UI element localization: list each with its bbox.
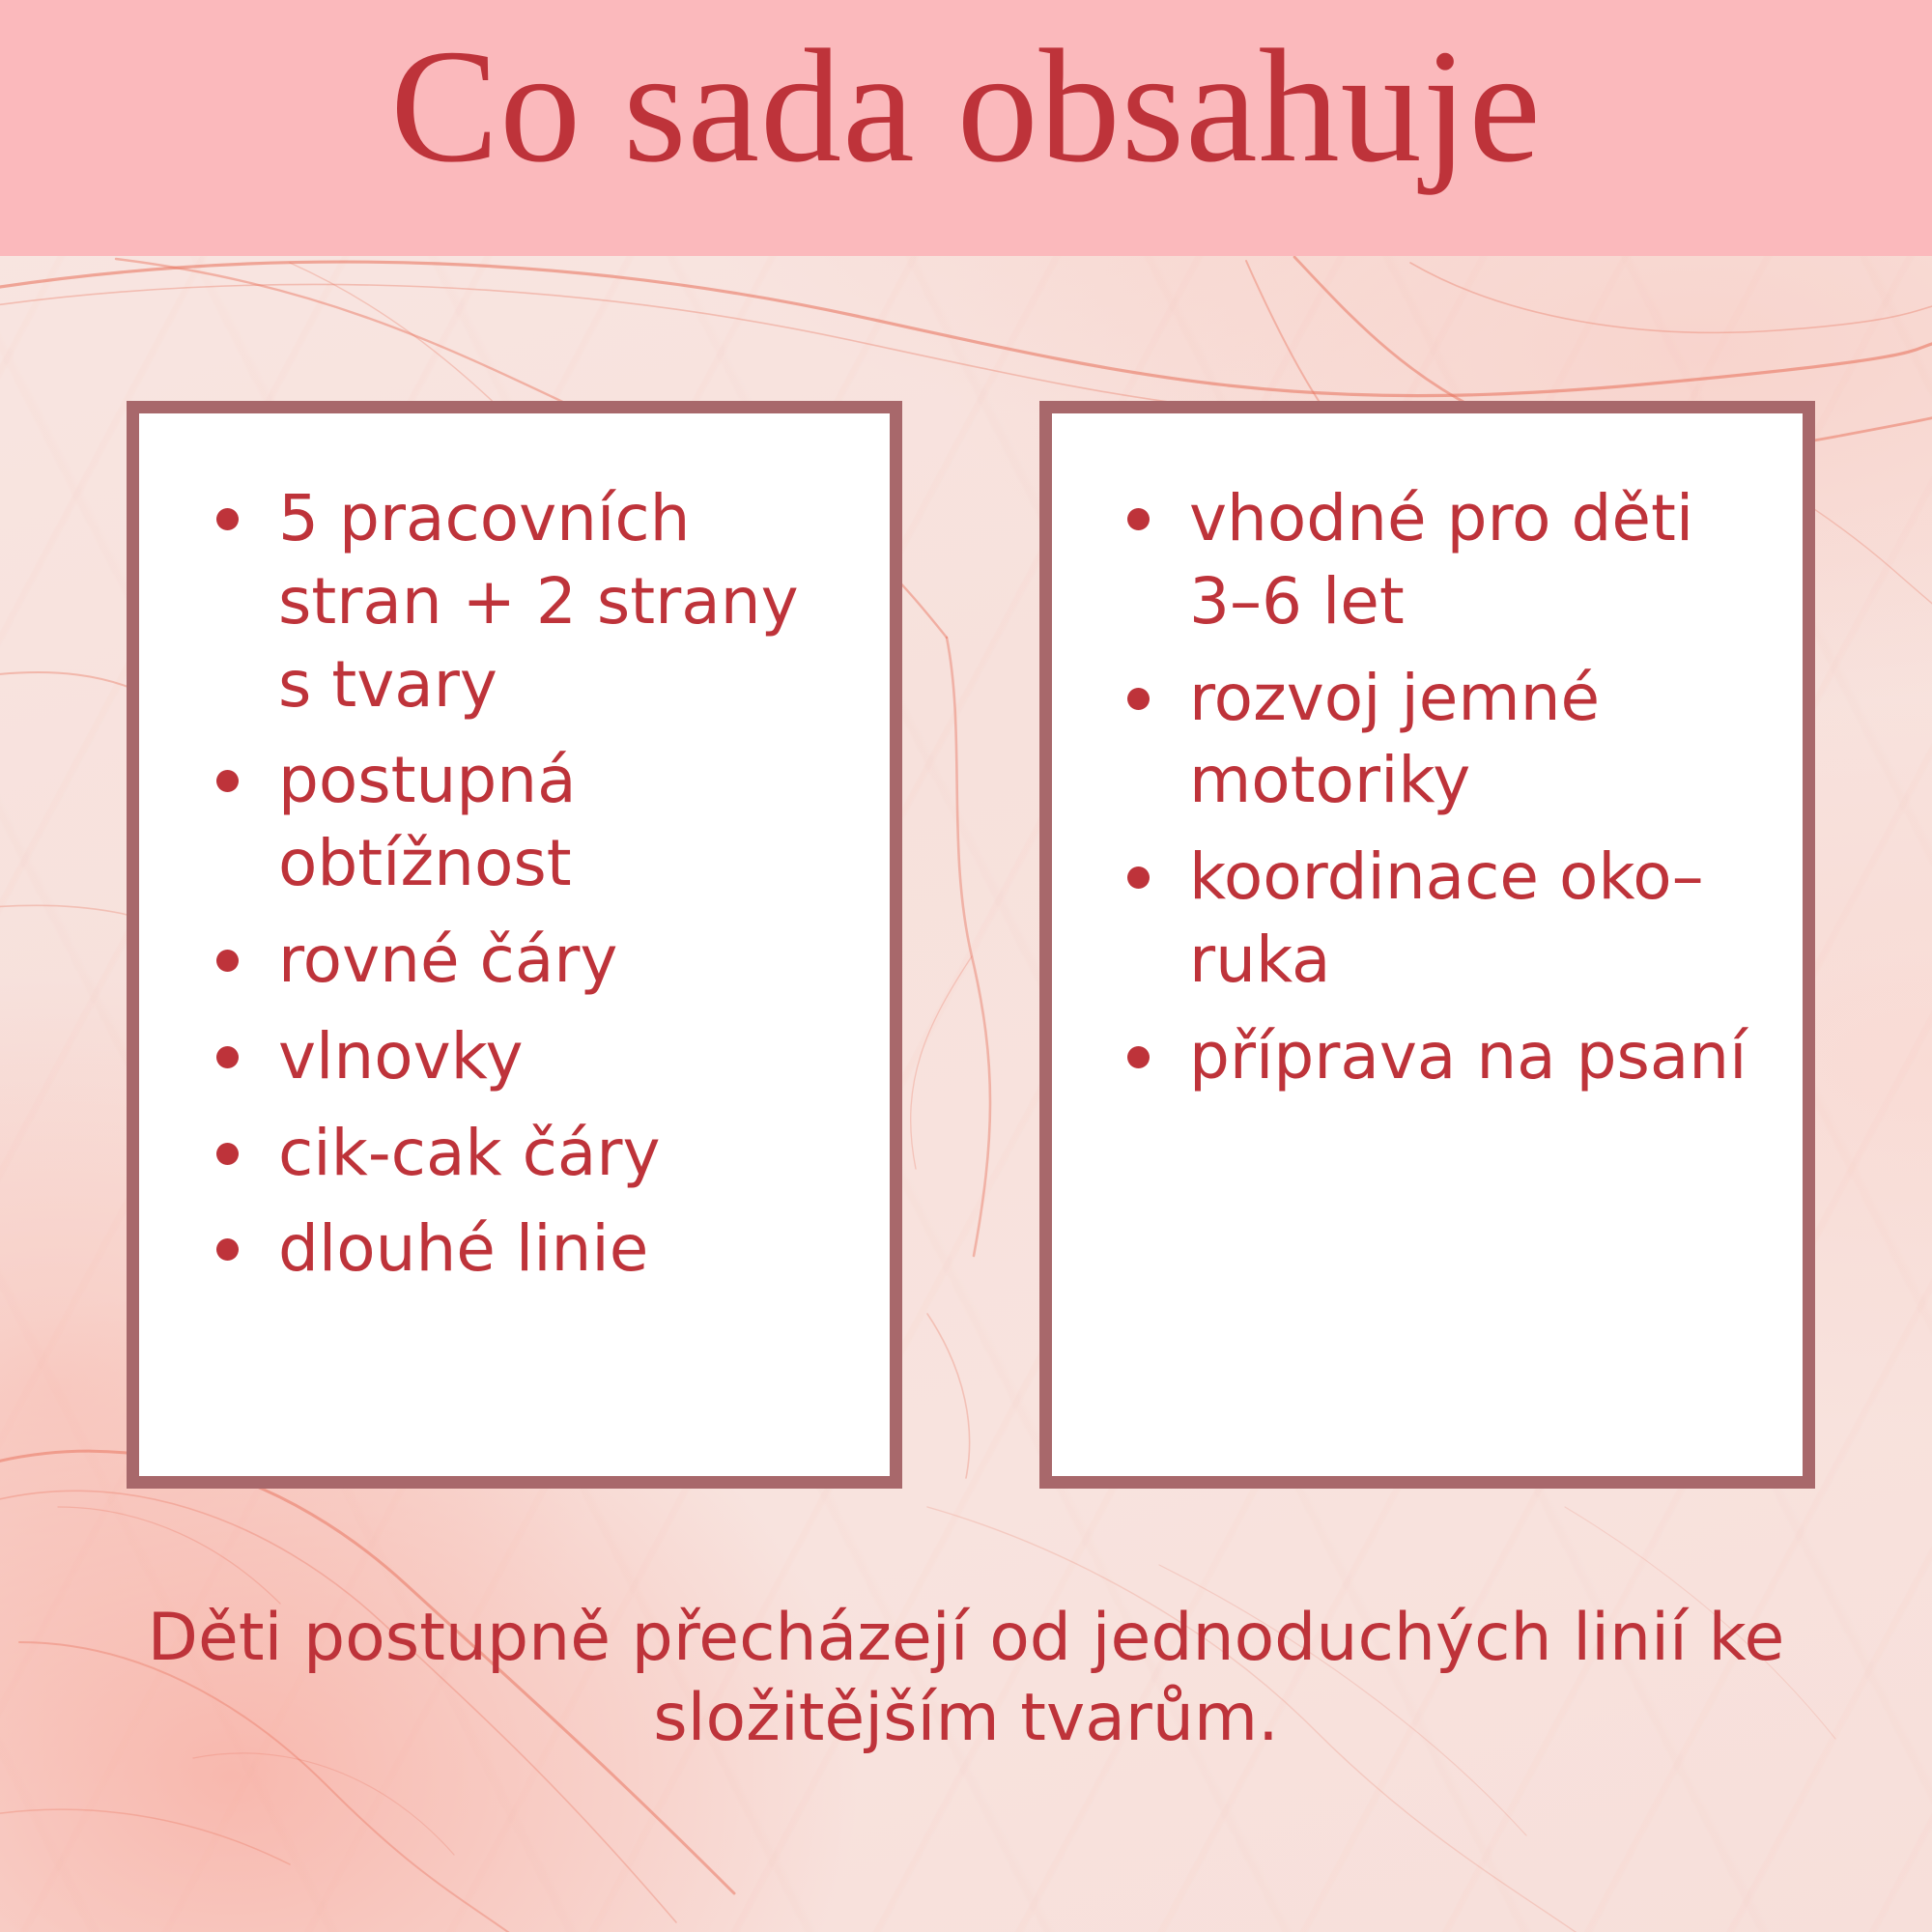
page-title: Co sada obsahuje (0, 21, 1932, 191)
list-item-label: vlnovky (278, 1019, 524, 1094)
list-item: vlnovky (216, 1015, 851, 1098)
list-item: rovné čáry (216, 919, 851, 1002)
benefits-card: vhodné pro děti 3–6 let rozvoj jemné mot… (1039, 401, 1815, 1489)
list-item-label: dlouhé linie (278, 1211, 648, 1286)
list-item-label: postupná obtížnost (278, 743, 577, 900)
contents-card: 5 pracovních stran + 2 strany s tvary po… (127, 401, 902, 1489)
list-item-label: koordinace oko–ruka (1189, 839, 1704, 997)
bullet-dot-icon (216, 1238, 239, 1261)
list-item-label: rozvoj jemné motoriky (1189, 661, 1600, 818)
bullet-dot-icon (1127, 508, 1150, 530)
list-item: koordinace oko–ruka (1127, 836, 1774, 1002)
list-item-label: 5 pracovních stran + 2 strany s tvary (278, 481, 799, 722)
bullet-dot-icon (216, 1046, 239, 1068)
benefits-list: vhodné pro děti 3–6 let rozvoj jemné mot… (1052, 413, 1803, 1098)
list-item: dlouhé linie (216, 1207, 851, 1291)
list-item-label: cik-cak čáry (278, 1116, 661, 1190)
bullet-dot-icon (216, 950, 239, 972)
header-band: Co sada obsahuje (0, 0, 1932, 256)
list-item: vhodné pro děti 3–6 let (1127, 477, 1774, 643)
bullet-dot-icon (1127, 867, 1150, 889)
bullet-dot-icon (216, 1143, 239, 1165)
list-item: cik-cak čáry (216, 1112, 851, 1195)
poster-canvas: Co sada obsahuje 5 pracovních stran + 2 … (0, 0, 1932, 1932)
list-item: příprava na psaní (1127, 1015, 1774, 1098)
bullet-dot-icon (216, 770, 239, 792)
list-item: rozvoj jemné motoriky (1127, 657, 1774, 823)
footer-caption: Děti postupně přecházejí od jednoduchých… (97, 1599, 1835, 1759)
contents-list: 5 pracovních stran + 2 strany s tvary po… (139, 413, 890, 1291)
list-item: postupná obtížnost (216, 739, 851, 905)
list-item-label: příprava na psaní (1189, 1019, 1747, 1094)
bullet-dot-icon (1127, 1046, 1150, 1068)
bullet-dot-icon (1127, 688, 1150, 710)
list-item-label: vhodné pro děti 3–6 let (1189, 481, 1693, 639)
list-item: 5 pracovních stran + 2 strany s tvary (216, 477, 851, 725)
list-item-label: rovné čáry (278, 923, 617, 997)
bullet-dot-icon (216, 508, 239, 530)
